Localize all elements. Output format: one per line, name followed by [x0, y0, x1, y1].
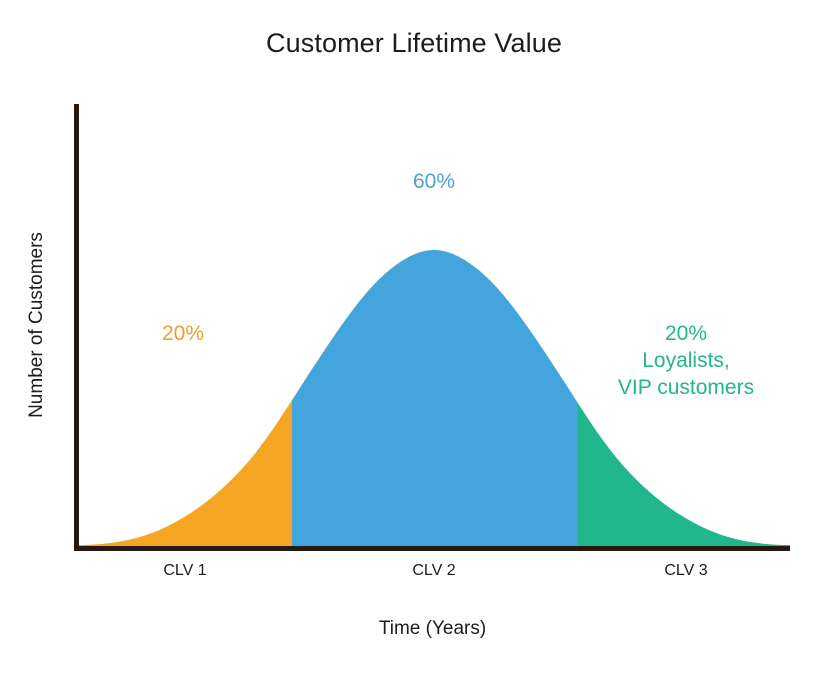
- chart-figure: Customer Lifetime Value: [0, 0, 828, 684]
- annotation-clv1-percent: 20%: [162, 320, 204, 347]
- annotation-clv3: 20% Loyalists, VIP customers: [618, 320, 754, 401]
- annotation-clv1: 20%: [162, 320, 204, 347]
- annotation-clv3-line3: VIP customers: [618, 374, 754, 401]
- annotation-clv2: 60%: [413, 168, 455, 195]
- x-tick-label-clv1: CLV 1: [163, 562, 206, 580]
- y-axis-title-text: Number of Customers: [26, 232, 48, 418]
- x-axis-title: Time (Years): [75, 618, 790, 640]
- x-tick-label-clv2: CLV 2: [412, 562, 455, 580]
- annotation-clv3-percent: 20%: [618, 320, 754, 347]
- annotation-clv2-percent: 60%: [413, 168, 455, 195]
- y-axis-title: Number of Customers: [22, 125, 52, 525]
- x-tick-label-clv3: CLV 3: [664, 562, 707, 580]
- annotation-clv3-line2: Loyalists,: [618, 347, 754, 374]
